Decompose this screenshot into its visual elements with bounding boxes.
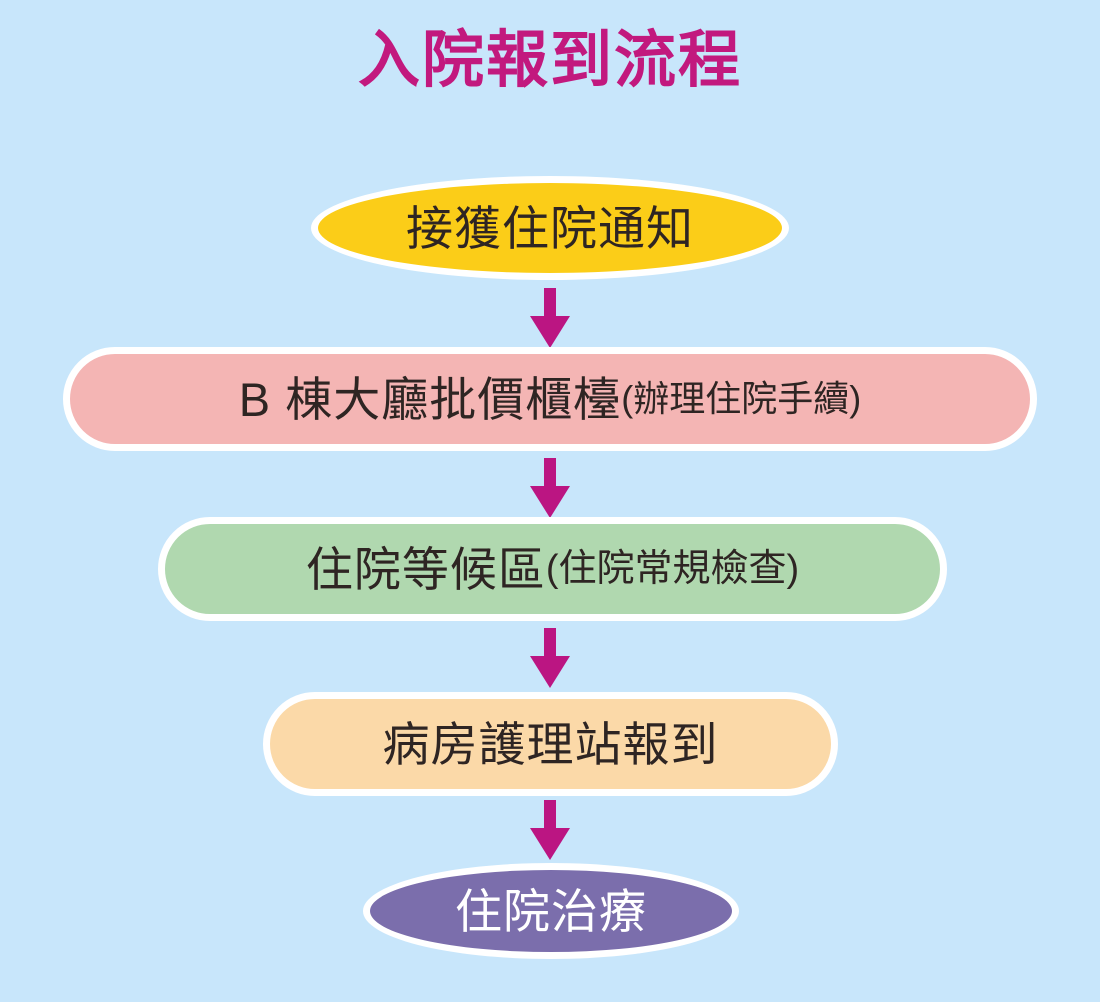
flow-node-step-3-label: 住院等候區 [306, 546, 546, 593]
flow-node-step-2[interactable]: B 棟大廳批價櫃檯(辦理住院手續) [63, 347, 1037, 451]
page-title: 入院報到流程 [0, 30, 1100, 92]
flow-node-step-3-sublabel: (住院常規檢查) [546, 550, 799, 588]
flow-node-step-5[interactable]: 住院治療 [363, 863, 739, 959]
arrow-down-icon [528, 288, 572, 350]
flow-node-step-1[interactable]: 接獲住院通知 [311, 176, 789, 280]
flowchart-diagram: 入院報到流程 接獲住院通知 B 棟大廳批價櫃檯(辦理住院手續) 住院等候區(住院… [0, 0, 1100, 1002]
arrow-down-icon [528, 628, 572, 690]
flow-node-step-4-label: 病房護理站報到 [383, 721, 719, 768]
flow-node-step-3[interactable]: 住院等候區(住院常規檢查) [158, 517, 947, 621]
flow-node-step-5-label: 住院治療 [455, 888, 647, 935]
flow-node-step-1-label: 接獲住院通知 [406, 205, 694, 252]
arrow-down-icon [528, 458, 572, 520]
flow-node-step-4[interactable]: 病房護理站報到 [263, 692, 838, 796]
arrow-down-icon [528, 800, 572, 862]
flow-node-step-2-label: B 棟大廳批價櫃檯 [239, 376, 621, 423]
flow-node-step-2-sublabel: (辦理住院手續) [621, 381, 861, 417]
